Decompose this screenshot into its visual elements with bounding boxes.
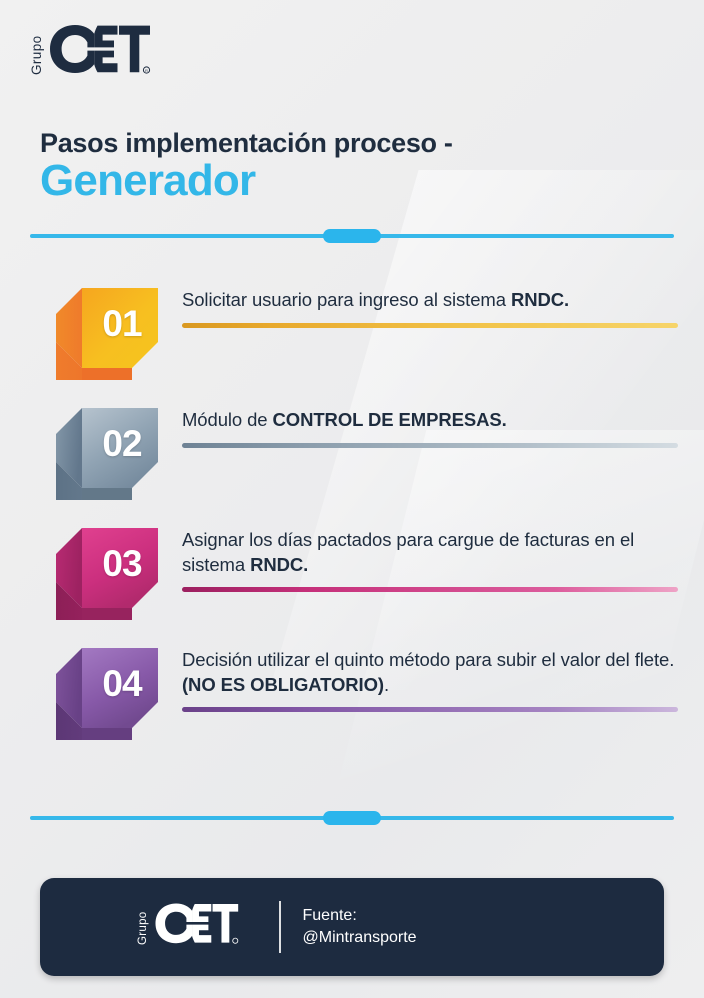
step-text-03: Asignar los días pactados para cargue de…: [182, 528, 678, 577]
step-text-tail-04: .: [384, 674, 389, 695]
step-cube-icon-03: 03: [50, 520, 168, 628]
footer-grupo-label: Grupo: [138, 909, 150, 945]
page-title: Pasos implementación proceso - Generador: [40, 128, 640, 206]
step-rule-01: [182, 323, 678, 328]
step-body-03: Asignar los días pactados para cargue de…: [182, 528, 678, 592]
step-rule-02: [182, 443, 678, 448]
step-text-bold-03: RNDC.: [250, 554, 308, 575]
step-body-01: Solicitar usuario para ingreso al sistem…: [182, 288, 678, 328]
oet-logo-icon: R: [47, 22, 151, 85]
step-body-02: Módulo de CONTROL DE EMPRESAS.: [182, 408, 678, 448]
step-text-02: Módulo de CONTROL DE EMPRESAS.: [182, 408, 678, 433]
step-text-bold-01: RNDC.: [511, 289, 569, 310]
step-item-04: 04 Decisión utilizar el quinto método pa…: [0, 632, 704, 752]
steps-list: 01 Solicitar usuario para ingreso al sis…: [0, 272, 704, 752]
brand-grupo-label: Grupo: [30, 31, 44, 75]
step-item-02: 02 Módulo de CONTROL DE EMPRESAS.: [0, 392, 704, 512]
step-number-02: 02: [50, 400, 168, 508]
title-line-2: Generador: [40, 156, 640, 205]
step-body-04: Decisión utilizar el quinto método para …: [182, 648, 678, 712]
footer-logo: Grupo: [138, 901, 239, 953]
step-text-04: Decisión utilizar el quinto método para …: [182, 648, 678, 697]
step-text-normal-01: Solicitar usuario para ingreso al sistem…: [182, 289, 511, 310]
footer-source-label: Fuente:: [303, 905, 417, 927]
step-cube-icon-02: 02: [50, 400, 168, 508]
svg-text:R: R: [145, 68, 148, 73]
divider-top: [30, 228, 674, 244]
divider-bottom: [30, 810, 674, 826]
footer-card: Grupo Fuente: @Mintransporte: [40, 878, 664, 976]
oet-logo-icon-footer: [153, 901, 239, 954]
footer-divider: [279, 901, 281, 953]
step-text-normal-02: Módulo de: [182, 409, 273, 430]
divider-center-pill: [323, 229, 381, 243]
step-cube-icon-04: 04: [50, 640, 168, 748]
step-text-bold-02: CONTROL DE EMPRESAS.: [273, 409, 507, 430]
step-text-01: Solicitar usuario para ingreso al sistem…: [182, 288, 678, 313]
header-logo: Grupo R: [30, 18, 151, 88]
footer-source: Fuente: @Mintransporte: [303, 905, 417, 950]
divider-center-pill-bottom: [323, 811, 381, 825]
step-number-04: 04: [50, 640, 168, 748]
footer-source-handle: @Mintransporte: [303, 927, 417, 949]
step-number-01: 01: [50, 280, 168, 388]
infographic-poster: Grupo R Pasos implementación proceso - G…: [0, 0, 704, 998]
step-rule-03: [182, 587, 678, 592]
step-number-03: 03: [50, 520, 168, 628]
step-item-03: 03 Asignar los días pactados para cargue…: [0, 512, 704, 632]
step-text-normal-04: Decisión utilizar el quinto método para …: [182, 649, 674, 670]
step-cube-icon-01: 01: [50, 280, 168, 388]
step-rule-04: [182, 707, 678, 712]
step-item-01: 01 Solicitar usuario para ingreso al sis…: [0, 272, 704, 392]
step-text-bold-04: (NO ES OBLIGATORIO): [182, 674, 384, 695]
title-line-1: Pasos implementación proceso -: [40, 128, 640, 158]
